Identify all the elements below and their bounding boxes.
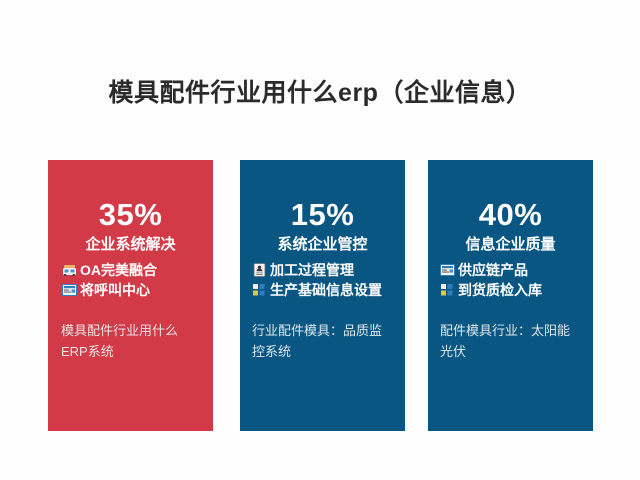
stat-card-2-bullet-2[interactable]: 生产基础信息设置 [240, 280, 405, 300]
stat-card-2-body: 行业配件模具：品质监控系统 [252, 320, 394, 362]
bar-blocks-icon [440, 283, 455, 297]
car-front-icon [62, 263, 77, 277]
stat-card-2-bullet-list: 加工过程管理 生产基础信息设置 [240, 260, 405, 300]
stat-card-1-body: 模具配件行业用什么ERP系统 [61, 320, 203, 362]
stat-card-1-bullet-1-label: OA完美融合 [80, 260, 157, 280]
bar-blocks-icon [252, 283, 267, 297]
stat-card-3-bullet-1[interactable]: 供应链产品 [428, 260, 593, 280]
slide-canvas: 模具配件行业用什么erp（企业信息） 35% 企业系统解决 [0, 0, 640, 480]
stat-card-2-bullet-1[interactable]: 加工过程管理 [240, 260, 405, 280]
stat-card-3-content: 40% 信息企业质量 供应链产品 [428, 160, 593, 431]
stat-card-1-bullet-1[interactable]: OA完美融合 [48, 260, 213, 280]
stat-card-2-subtitle: 系统企业管控 [240, 234, 405, 256]
stat-card-1-subtitle: 企业系统解决 [48, 234, 213, 256]
id-card-icon [62, 283, 77, 297]
id-card-icon [440, 263, 455, 277]
stat-card-3-bullet-1-label: 供应链产品 [458, 260, 528, 280]
stat-card-2-bullet-1-label: 加工过程管理 [270, 260, 354, 280]
stat-card-1-percent: 35% [48, 198, 213, 232]
page-title: 模具配件行业用什么erp（企业信息） [0, 76, 640, 110]
stat-card-2[interactable]: 15% 系统企业管控 加工过程管理 [240, 160, 405, 431]
stat-card-1-bullet-2[interactable]: 将呼叫中心 [48, 280, 213, 300]
stat-card-3-bullet-2[interactable]: 到货质检入库 [428, 280, 593, 300]
stat-card-3-bullet-2-label: 到货质检入库 [458, 280, 542, 300]
stat-card-3-bullet-list: 供应链产品 到货质检入库 [428, 260, 593, 300]
stat-card-3-body: 配件模具行业：太阳能光伏 [440, 320, 582, 362]
stat-card-1-content: 35% 企业系统解决 [48, 160, 213, 431]
stat-card-1-bullet-list: OA完美融合 将呼叫中心 [48, 260, 213, 300]
stat-card-3-subtitle: 信息企业质量 [428, 234, 593, 256]
document-person-icon [252, 263, 267, 277]
stat-card-2-bullet-2-label: 生产基础信息设置 [270, 280, 382, 300]
stat-card-2-percent: 15% [240, 198, 405, 232]
stat-card-3-percent: 40% [428, 198, 593, 232]
stat-card-3[interactable]: 40% 信息企业质量 供应链产品 [428, 160, 593, 431]
card-group: 35% 企业系统解决 [48, 160, 593, 431]
stat-card-1-bullet-2-label: 将呼叫中心 [80, 280, 150, 300]
stat-card-1[interactable]: 35% 企业系统解决 [48, 160, 213, 431]
stat-card-2-content: 15% 系统企业管控 加工过程管理 [240, 160, 405, 431]
